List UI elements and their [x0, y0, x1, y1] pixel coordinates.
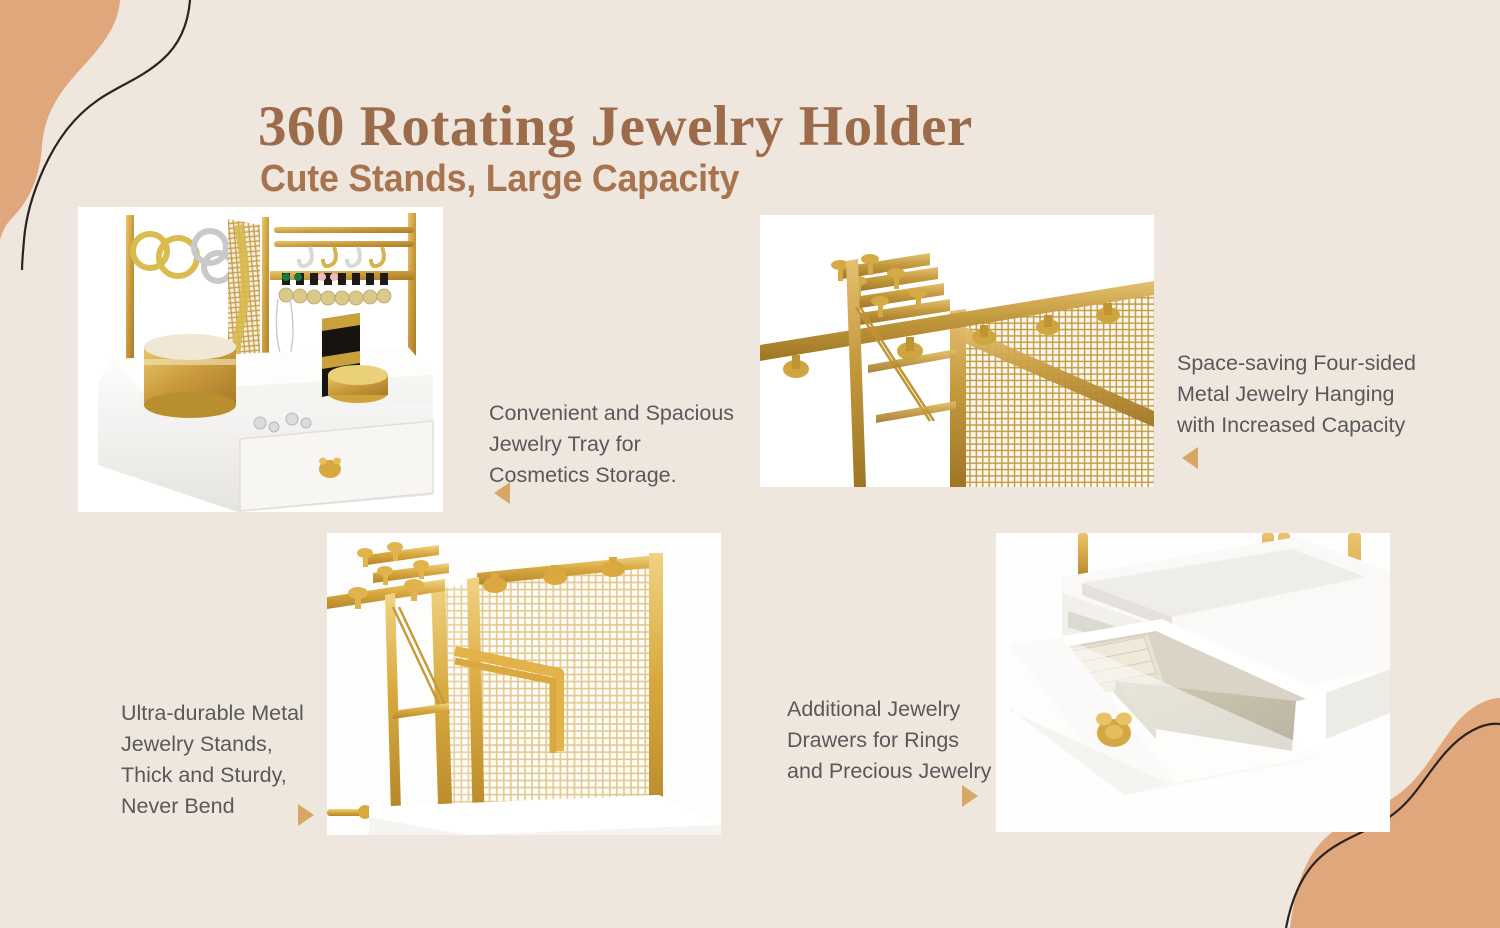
infographic-canvas: 360 Rotating Jewelry Holder Cute Stands,…: [0, 0, 1500, 928]
caption-marker-left-icon: [1182, 447, 1198, 469]
product-photo-cosmetics-tray: [78, 207, 443, 512]
page-title: 360 Rotating Jewelry Holder: [258, 94, 973, 159]
feature-caption-cosmetics-tray: Convenient and Spacious Jewelry Tray for…: [489, 398, 769, 491]
product-photo-durable-metal-stands: [327, 533, 721, 835]
feature-caption-jewelry-drawers: Additional Jewelry Drawers for Rings and…: [787, 694, 1017, 787]
caption-marker-right-icon: [298, 804, 314, 826]
product-photo-four-sided-hanging: [760, 215, 1154, 487]
caption-marker-left-icon: [494, 482, 510, 504]
feature-caption-durable-metal-stands: Ultra-durable Metal Jewelry Stands, Thic…: [121, 698, 351, 822]
feature-caption-four-sided-hanging: Space-saving Four-sided Metal Jewelry Ha…: [1177, 348, 1457, 441]
product-photo-jewelry-drawers: [996, 533, 1390, 832]
page-subtitle: Cute Stands, Large Capacity: [260, 158, 739, 201]
caption-marker-right-icon: [962, 785, 978, 807]
